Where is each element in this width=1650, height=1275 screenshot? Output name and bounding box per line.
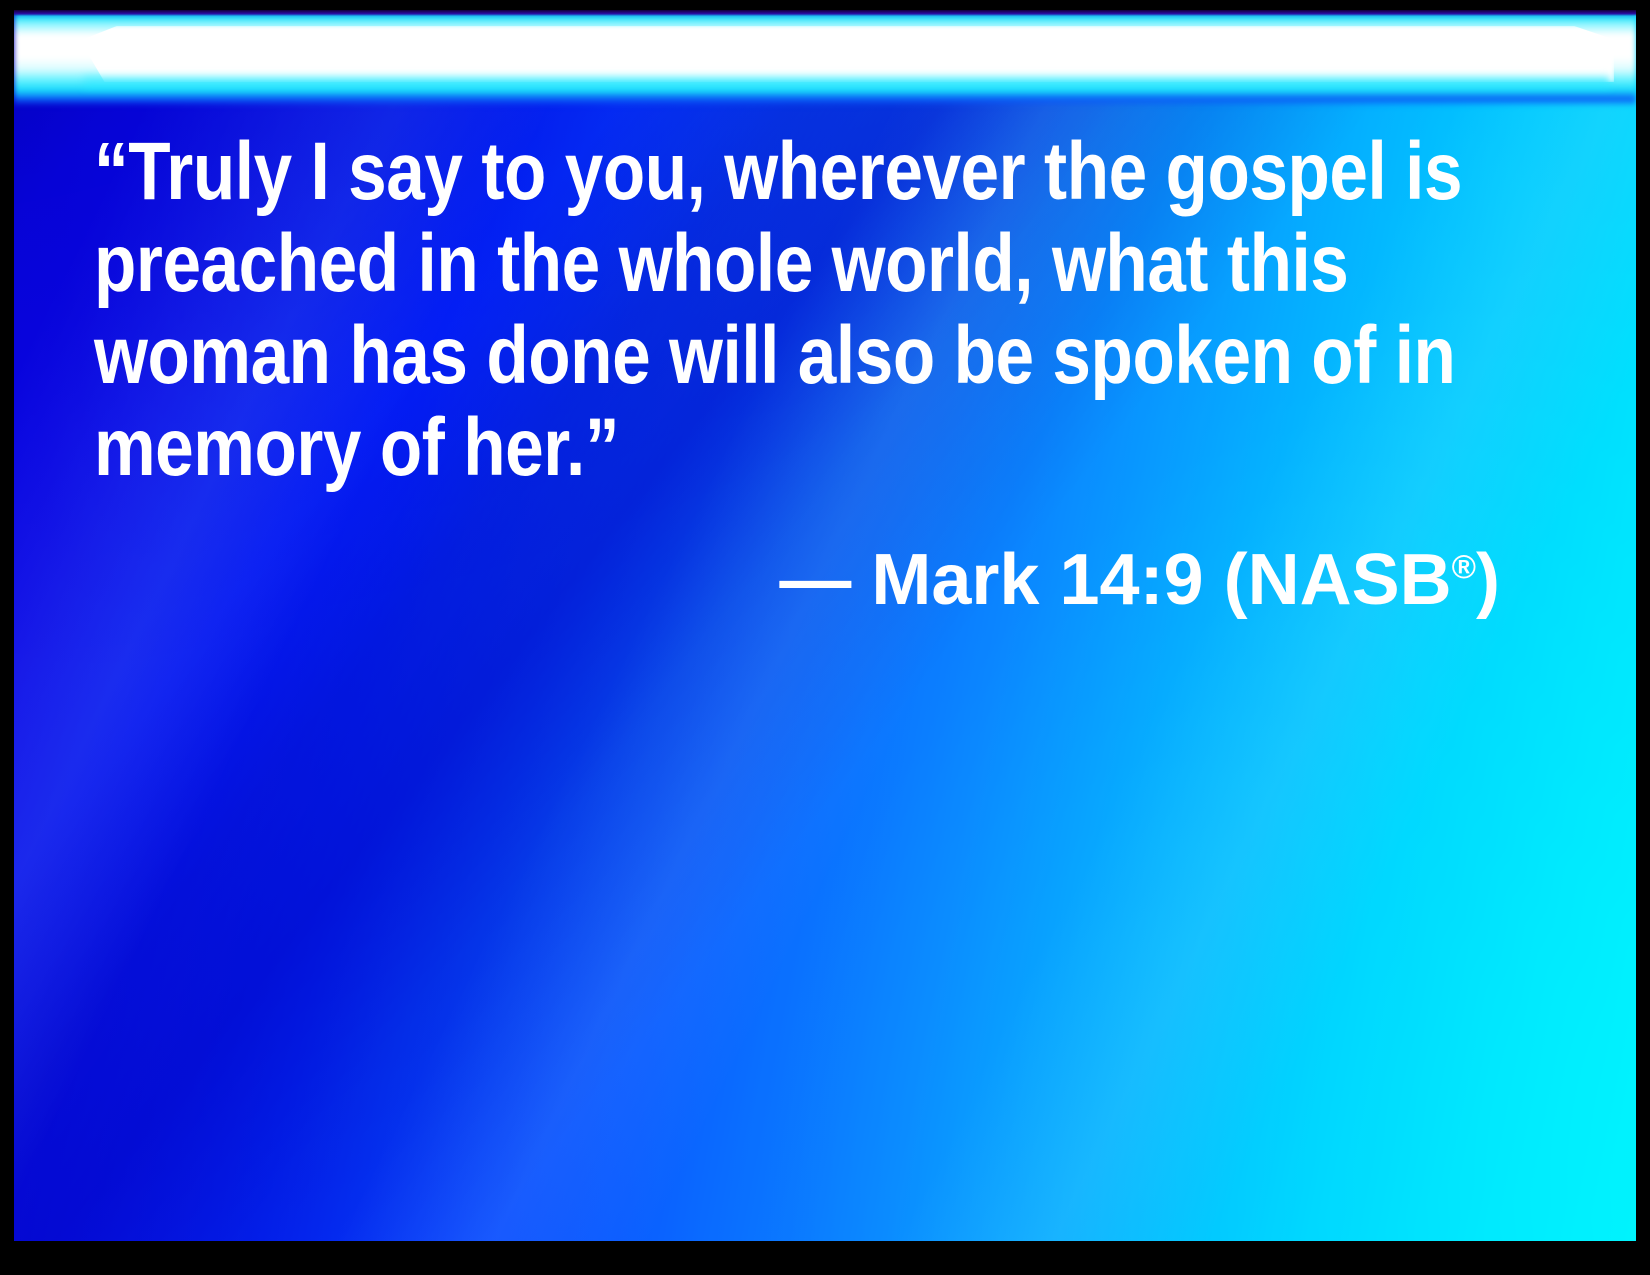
citation-space-1 — [851, 540, 871, 620]
citation-space-2 — [1039, 540, 1059, 620]
citation-version: NASB — [1248, 540, 1452, 620]
registered-trademark-icon: ® — [1452, 549, 1476, 586]
citation-open-paren: ( — [1224, 540, 1248, 620]
citation-space-3 — [1204, 540, 1224, 620]
verse-text: “Truly I say to you, wherever the gospel… — [94, 126, 1514, 494]
citation-close-paren: ) — [1476, 540, 1500, 620]
citation-dash: — — [779, 540, 851, 620]
verse-citation: — Mark 14:9 (NASB®) — [94, 540, 1514, 620]
citation-book: Mark — [871, 540, 1039, 620]
verse-block: “Truly I say to you, wherever the gospel… — [94, 126, 1514, 620]
slide-stage: “Truly I say to you, wherever the gospel… — [14, 10, 1636, 1241]
slide-frame: “Truly I say to you, wherever the gospel… — [0, 0, 1650, 1275]
citation-reference: 14:9 — [1059, 540, 1203, 620]
